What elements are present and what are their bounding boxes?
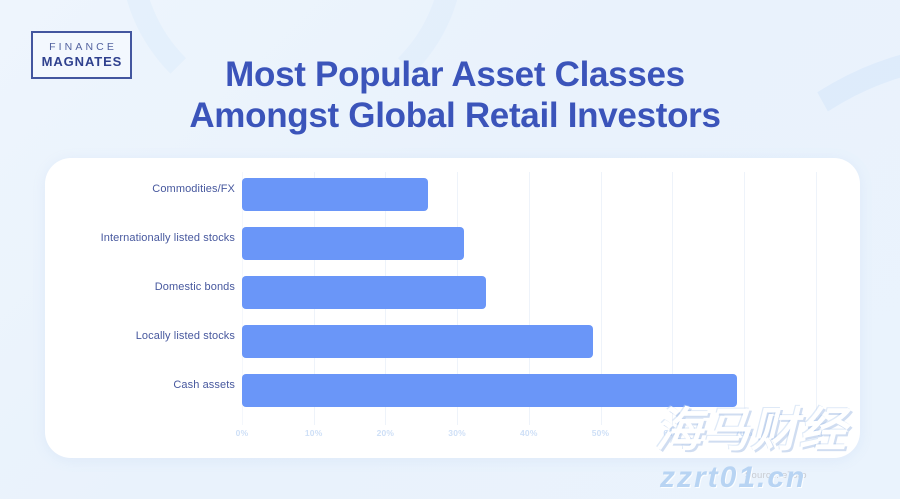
- x-axis-tick-label: 30%: [448, 428, 466, 438]
- bar[interactable]: [242, 276, 486, 309]
- bar-category-label: Domestic bonds: [45, 281, 235, 293]
- source-attribution: Source: eToro: [745, 470, 807, 481]
- x-axis-tick-label: 40%: [520, 428, 538, 438]
- x-axis-tick-label: 50%: [592, 428, 610, 438]
- bar-category-label: Cash assets: [45, 379, 235, 391]
- bar[interactable]: [242, 227, 464, 260]
- bar-category-label: Commodities/FX: [45, 183, 235, 195]
- logo-line-finance: FINANCE: [46, 41, 117, 54]
- page-title: Most Popular Asset Classes Amongst Globa…: [110, 54, 800, 136]
- page-title-line-1: Most Popular Asset Classes: [110, 54, 800, 95]
- bar[interactable]: [242, 325, 593, 358]
- x-axis-tick-label: 70%: [735, 428, 753, 438]
- bar-row: Locally listed stocks: [45, 319, 860, 368]
- chart-card: Commodities/FXInternationally listed sto…: [45, 158, 860, 458]
- bar-row: Commodities/FX: [45, 172, 860, 221]
- x-axis-tick-label: 20%: [377, 428, 395, 438]
- bar-category-label: Internationally listed stocks: [45, 232, 235, 244]
- bar-row: Internationally listed stocks: [45, 221, 860, 270]
- bar-row: Cash assets: [45, 368, 860, 417]
- bar[interactable]: [242, 374, 737, 407]
- bar-row: Domestic bonds: [45, 270, 860, 319]
- x-axis-tick-label: 60%: [663, 428, 681, 438]
- x-axis-tick-label: 10%: [305, 428, 323, 438]
- x-axis-tick-label: 0%: [236, 428, 249, 438]
- bar-category-label: Locally listed stocks: [45, 330, 235, 342]
- bar[interactable]: [242, 178, 428, 211]
- infographic-canvas: FINANCE MAGNATES Most Popular Asset Clas…: [0, 0, 900, 499]
- bar-chart: Commodities/FXInternationally listed sto…: [45, 158, 860, 458]
- x-axis-tick-label: 80%: [807, 428, 825, 438]
- page-title-line-2: Amongst Global Retail Investors: [110, 95, 800, 136]
